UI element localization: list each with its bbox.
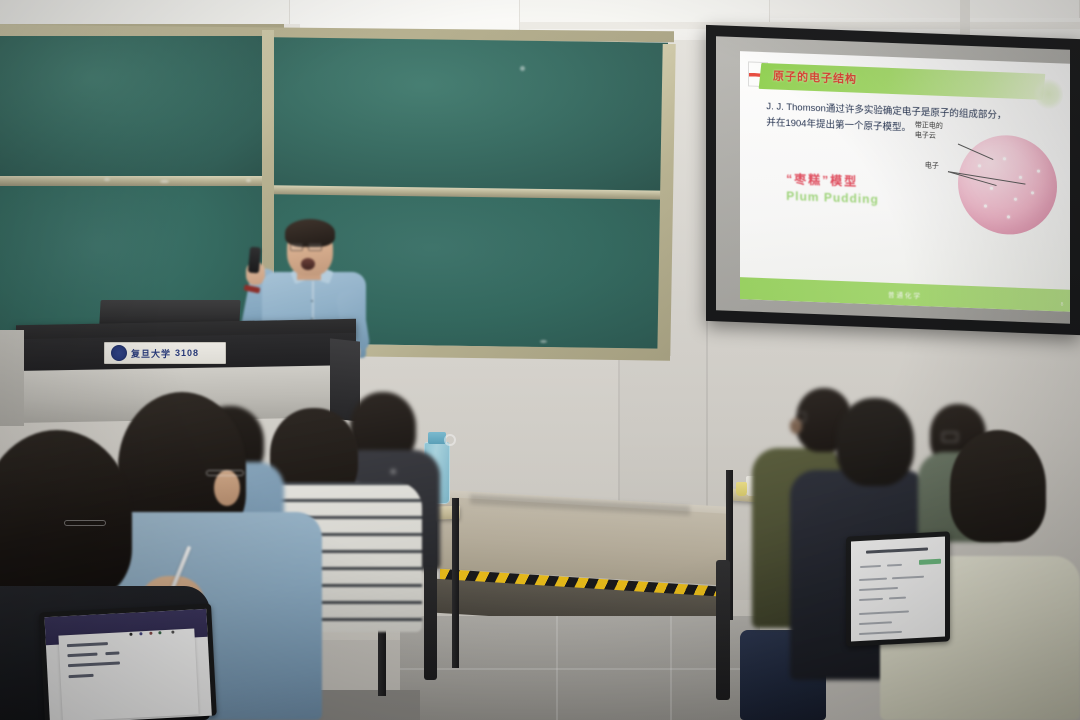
fudan-university-seal-icon — [111, 345, 127, 361]
lecturer-mouth — [301, 258, 315, 270]
eyeglasses-right-lens — [308, 243, 322, 251]
annotation-electron-cloud: 带正电的 电子云 — [915, 121, 943, 141]
eyeglass-temple-arm — [206, 470, 244, 476]
tablet-note-page — [58, 629, 198, 720]
annotation-electron: 电子 — [925, 161, 939, 171]
projector-screen: 原子的电子结构 J. J. Thomson通过许多实验确定电子是原子的组成部分，… — [706, 25, 1080, 335]
model-label-chinese: “枣糕”模型 — [786, 169, 858, 189]
slide-footer-band: 普通化学 — [740, 277, 1070, 312]
presentation-slide: 原子的电子结构 J. J. Thomson通过许多实验确定电子是原子的组成部分，… — [740, 51, 1070, 312]
slide-footer-text: 普通化学 — [888, 289, 922, 300]
eyeglasses-bridge — [303, 246, 308, 247]
document-tablet[interactable] — [846, 531, 950, 646]
lecture-hall-photo: 原子的电子结构 J. J. Thomson通过许多实验确定电子是原子的组成部分，… — [0, 0, 1080, 720]
snack-box — [736, 482, 747, 496]
university-name: 复旦大学 — [131, 347, 171, 360]
note-taking-tablet[interactable] — [39, 604, 217, 720]
room-number: 3108 — [175, 348, 199, 358]
eyeglass-temple-arm-left — [64, 520, 106, 526]
eyeglasses-left-lens — [290, 243, 303, 251]
room-sign: 复旦大学 3108 — [104, 342, 226, 364]
handheld-microphone — [248, 247, 261, 274]
bottle-carry-loop — [444, 434, 456, 446]
slide-page-number: 8 — [1061, 302, 1064, 308]
chair-right — [716, 560, 730, 700]
model-label-english: Plum Pudding — [786, 189, 879, 207]
slide-watermark — [1034, 77, 1064, 110]
